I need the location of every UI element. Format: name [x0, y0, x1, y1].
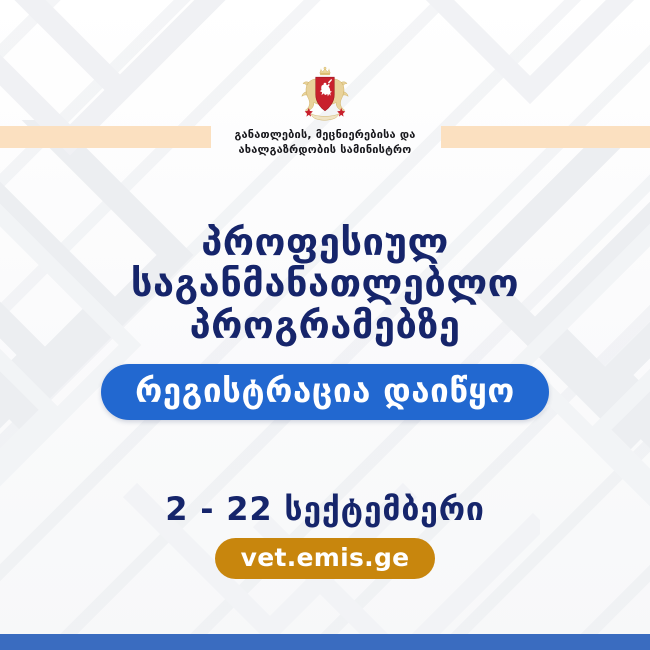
- url-pill-container: vet.emis.ge: [0, 538, 650, 579]
- ministry-name: განათლების, მეცნიერებისა და ახალგაზრდობი…: [234, 128, 415, 157]
- headline-line-2: საგანმანათლებლო: [0, 263, 650, 304]
- georgia-coat-of-arms-icon: [296, 66, 354, 122]
- ministry-name-line1: განათლების, მეცნიერებისა და: [234, 128, 415, 143]
- bottom-accent-bar: [0, 634, 650, 650]
- ministry-name-line2: ახალგაზრდობის სამინისტრო: [234, 143, 415, 158]
- website-url-badge[interactable]: vet.emis.ge: [215, 538, 436, 579]
- headline-line-1: პროფესიულ: [0, 222, 650, 263]
- poster-canvas: განათლების, მეცნიერებისა და ახალგაზრდობი…: [0, 0, 650, 650]
- page-title: პროფესიულ საგანმანათლებლო პროგრამებზე: [0, 222, 650, 346]
- headline-line-3: პროგრამებზე: [0, 305, 650, 346]
- registration-date-range: 2 - 22 სექტემბერი: [0, 490, 650, 528]
- registration-open-badge: რეგისტრაცია დაიწყო: [101, 364, 549, 420]
- highlight-pill-container: რეგისტრაცია დაიწყო: [0, 364, 650, 420]
- ministry-header: განათლების, მეცნიერებისა და ახალგაზრდობი…: [0, 66, 650, 157]
